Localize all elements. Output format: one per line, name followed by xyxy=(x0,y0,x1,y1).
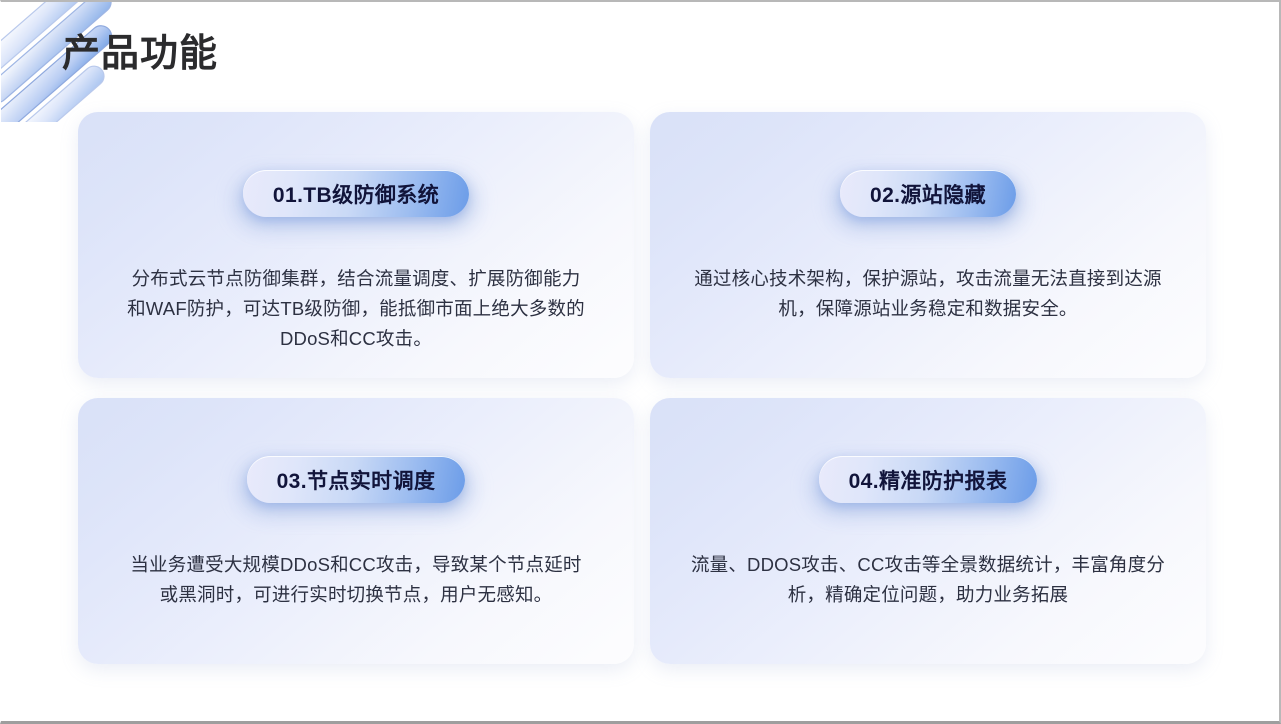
badge-halo-1: 01.TB级防御系统 xyxy=(243,170,469,217)
badge-halo-3: 03.节点实时调度 xyxy=(247,456,466,503)
feature-badge-wrap-2: 02.源站隐藏 xyxy=(650,170,1206,217)
feature-text-1: 分布式云节点防御集群，结合流量调度、扩展防御能力和WAF防护，可达TB级防御，能… xyxy=(126,264,586,354)
page-title: 产品功能 xyxy=(62,29,218,79)
feature-badge-2[interactable]: 02.源站隐藏 xyxy=(840,170,1016,217)
feature-text-3: 当业务遭受大规模DDoS和CC攻击，导致某个节点延时或黑洞时，可进行实时切换节点… xyxy=(126,550,586,610)
feature-badge-1[interactable]: 01.TB级防御系统 xyxy=(243,170,469,217)
feature-badge-wrap-4: 04.精准防护报表 xyxy=(650,456,1206,503)
feature-card-grid: 01.TB级防御系统 分布式云节点防御集群，结合流量调度、扩展防御能力和WAF防… xyxy=(78,112,1206,664)
badge-halo-4: 04.精准防护报表 xyxy=(819,456,1038,503)
slide-canvas: 产品功能 01.TB级防御系统 分布式云节点防御集群，结合流量调度、扩展防御能力… xyxy=(0,0,1281,724)
feature-badge-wrap-3: 03.节点实时调度 xyxy=(78,456,634,503)
feature-badge-wrap-1: 01.TB级防御系统 xyxy=(78,170,634,217)
feature-text-4: 流量、DDOS攻击、CC攻击等全景数据统计，丰富角度分析，精确定位问题，助力业务… xyxy=(688,550,1168,610)
feature-card-4[interactable]: 04.精准防护报表 流量、DDOS攻击、CC攻击等全景数据统计，丰富角度分析，精… xyxy=(650,398,1206,664)
feature-text-2: 通过核心技术架构，保护源站，攻击流量无法直接到达源机，保障源站业务稳定和数据安全… xyxy=(681,264,1176,324)
feature-badge-3[interactable]: 03.节点实时调度 xyxy=(247,456,466,503)
feature-card-2[interactable]: 02.源站隐藏 通过核心技术架构，保护源站，攻击流量无法直接到达源机，保障源站业… xyxy=(650,112,1206,378)
feature-card-1[interactable]: 01.TB级防御系统 分布式云节点防御集群，结合流量调度、扩展防御能力和WAF防… xyxy=(78,112,634,378)
feature-card-3[interactable]: 03.节点实时调度 当业务遭受大规模DDoS和CC攻击，导致某个节点延时或黑洞时… xyxy=(78,398,634,664)
badge-halo-2: 02.源站隐藏 xyxy=(840,170,1016,217)
feature-badge-4[interactable]: 04.精准防护报表 xyxy=(819,456,1038,503)
